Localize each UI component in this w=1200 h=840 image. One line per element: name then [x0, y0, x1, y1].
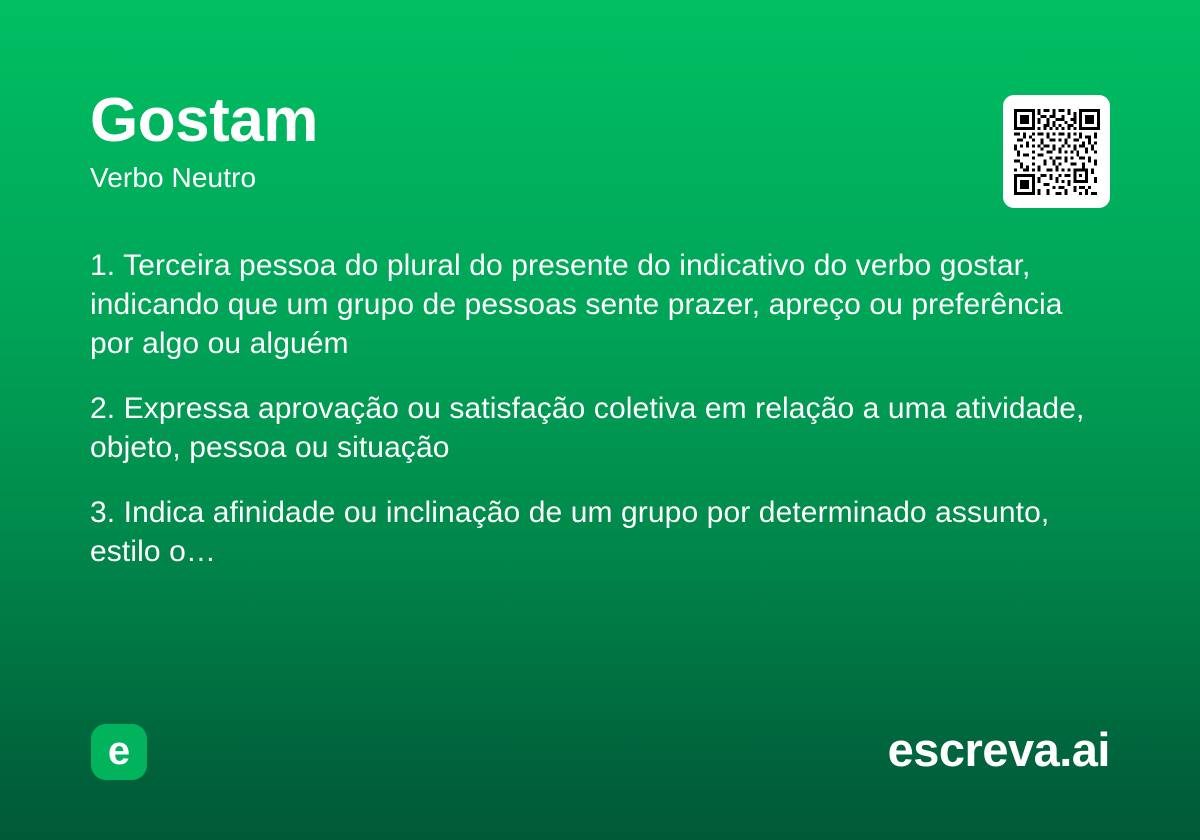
page-title: Gostam: [90, 88, 950, 153]
brand-logo-letter: e: [108, 731, 130, 771]
card-header: Gostam Verbo Neutro: [90, 88, 950, 194]
qr-code-card[interactable]: [1003, 95, 1110, 208]
definition-item: 3. Indica afinidade ou inclinação de um …: [90, 493, 1104, 571]
qr-code-icon: [1014, 109, 1100, 195]
word-class-label: Verbo Neutro: [90, 163, 950, 194]
definition-item: 2. Expressa aprovação ou satisfação cole…: [90, 389, 1104, 467]
brand-logo-tile: e: [91, 724, 147, 780]
definition-card: Gostam Verbo Neutro: [0, 0, 1200, 840]
definition-list: 1. Terceira pessoa do plural do presente…: [90, 246, 1104, 571]
brand-wordmark: escreva.ai: [888, 722, 1110, 778]
definition-item: 1. Terceira pessoa do plural do presente…: [90, 246, 1104, 363]
